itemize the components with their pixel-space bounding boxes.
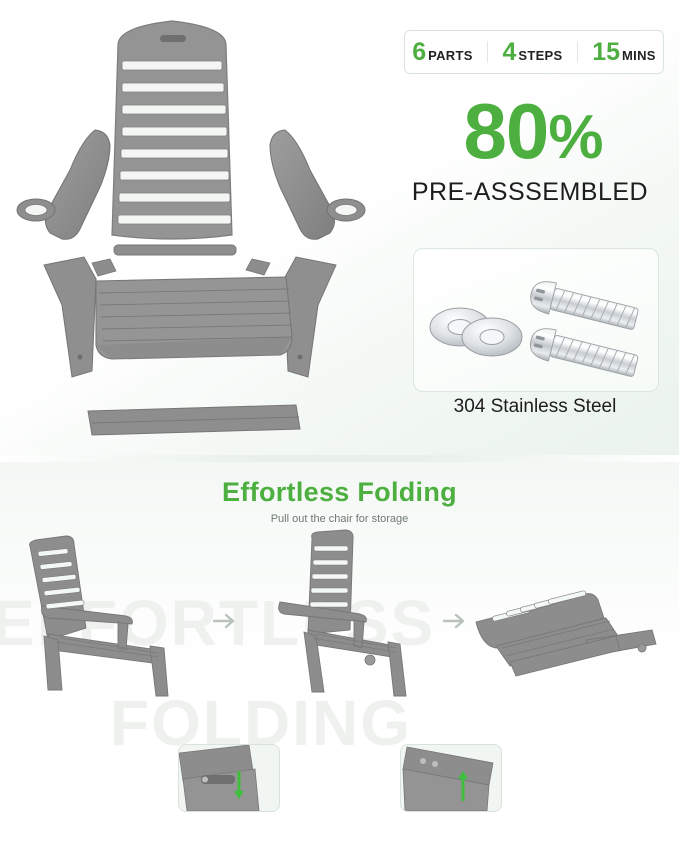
latch-callout-left	[178, 744, 280, 812]
product-infographic: 6 PARTS 4 STEPS 15 MINS 80% PRE-ASSSEMBL…	[0, 0, 679, 849]
spec-badges: 6 PARTS 4 STEPS 15 MINS	[404, 30, 664, 74]
chair-armrest-right-part	[270, 130, 365, 239]
folding-stage-3	[466, 574, 676, 704]
folding-section: EFFORTLESS FOLDING Effortless Folding Pu…	[0, 462, 679, 849]
folding-title: Effortless Folding	[0, 477, 679, 508]
chair-leg-left-part	[44, 257, 96, 377]
exploded-chair-illustration	[0, 5, 400, 455]
badge-divider-1	[487, 41, 488, 63]
badge-parts-unit: PARTS	[428, 48, 473, 63]
badge-mins: 15 MINS	[592, 40, 656, 65]
chair-crossbar-part	[114, 245, 236, 255]
bolt-upper	[527, 278, 640, 335]
badge-divider-2	[577, 41, 578, 63]
latch-detail-left-illustration	[179, 745, 279, 811]
chair-armrest-left-part	[17, 130, 110, 239]
badge-parts-number: 6	[412, 40, 426, 65]
hardware-card	[413, 248, 659, 392]
latch-callout-right	[400, 744, 502, 812]
hardware-caption: 304 Stainless Steel	[404, 396, 666, 418]
bolt-lower	[527, 325, 640, 382]
chair-front-rail-part	[88, 405, 300, 435]
folding-stage-2	[250, 524, 440, 704]
chair-connector-blocks	[92, 259, 270, 276]
badge-mins-unit: MINS	[622, 48, 656, 63]
pre-assembled-caption: PRE-ASSSEMBLED	[380, 178, 679, 207]
badge-steps-number: 4	[502, 40, 516, 65]
hardware-illustration	[414, 249, 658, 391]
latch-detail-right-illustration	[401, 745, 501, 811]
badge-mins-number: 15	[592, 40, 620, 65]
percent-value: 80	[464, 87, 549, 175]
badge-parts: 6 PARTS	[412, 40, 473, 65]
folding-stage-1	[8, 530, 198, 700]
badge-steps: 4 STEPS	[502, 40, 562, 65]
top-section: 6 PARTS 4 STEPS 15 MINS 80% PRE-ASSSEMBL…	[0, 0, 679, 462]
stage-arrow-1-icon	[212, 612, 240, 630]
badge-steps-unit: STEPS	[518, 48, 562, 63]
pre-assembled-percent: 80%	[404, 92, 662, 170]
percent-sign: %	[548, 103, 602, 172]
chair-seat-part	[96, 277, 292, 359]
chair-leg-right-part	[284, 257, 336, 377]
chair-backrest-part	[112, 21, 232, 239]
washer-front	[462, 318, 522, 356]
